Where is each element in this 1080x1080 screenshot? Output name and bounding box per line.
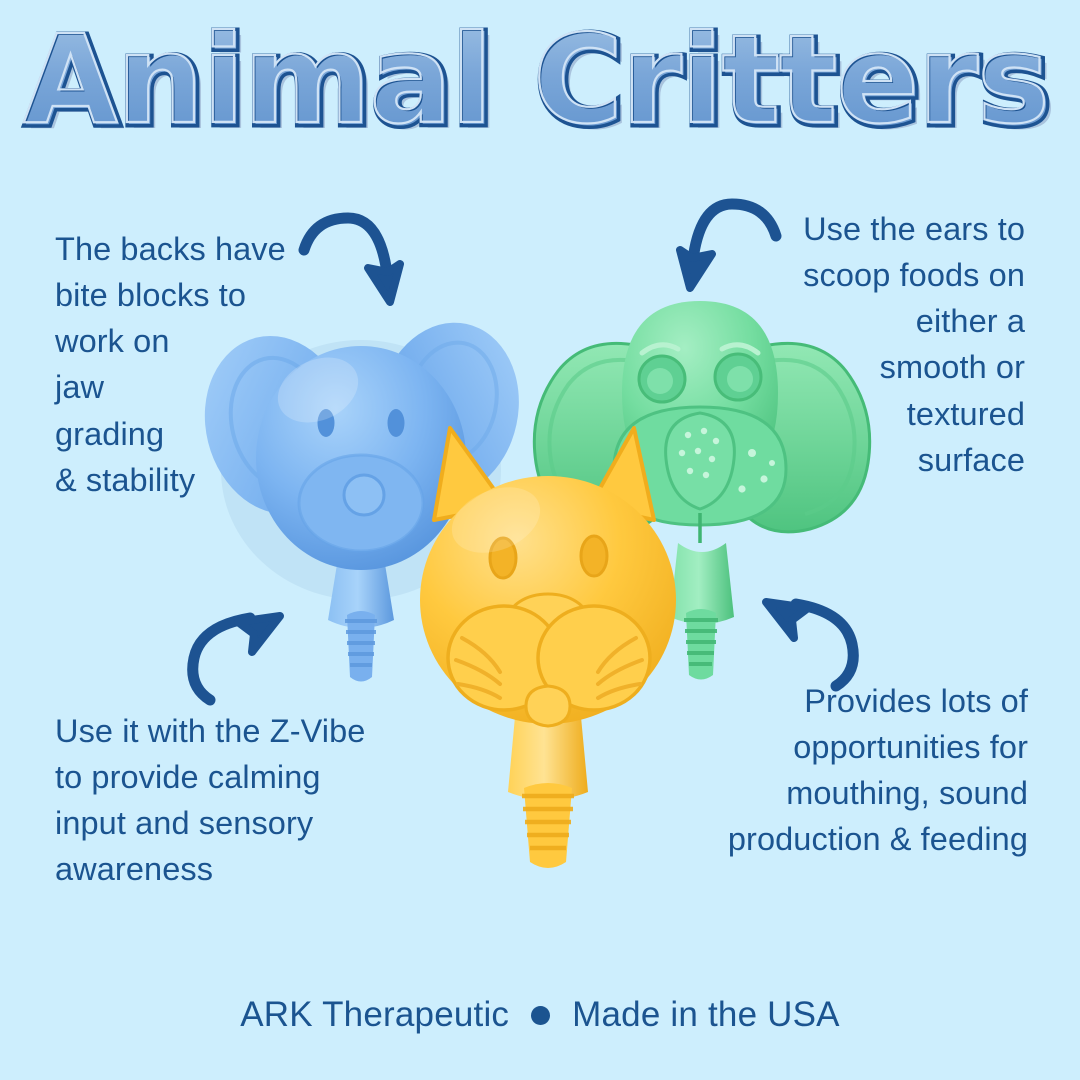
arrow-curve-up-left-icon (738, 582, 878, 692)
poster-canvas: Animal Critters Animal Critters Animal C… (0, 0, 1080, 1080)
title-graphic: Animal Critters Animal Critters Animal C… (40, 21, 1040, 161)
footer-brand: ARK Therapeutic (240, 995, 509, 1035)
page-title: Animal Critters Animal Critters Animal C… (0, 26, 1080, 156)
callout-top-right: Use the ears to scoop foods on either a … (715, 206, 1025, 483)
product-cat[interactable] (398, 410, 698, 885)
callout-bottom-right: Provides lots of opportunities for mouth… (658, 678, 1028, 863)
bullet-dot-icon (531, 1006, 550, 1025)
cat-stem (508, 706, 588, 868)
cat-graphic (398, 410, 698, 880)
cat-eye-right (581, 536, 607, 576)
arrow-curve-up-right-icon (168, 596, 308, 706)
footer-origin: Made in the USA (572, 995, 840, 1035)
cat-head (420, 475, 676, 726)
cat-mouth (526, 686, 570, 726)
footer: ARK Therapeutic Made in the USA (0, 995, 1080, 1035)
elephant-stem (328, 558, 394, 682)
callout-top-left: The backs have bite blocks to work on ja… (55, 226, 355, 503)
callout-bottom-left: Use it with the Z-Vibe to provide calmin… (55, 708, 425, 893)
title-highlight-layer: Animal Critters (23, 9, 1049, 151)
